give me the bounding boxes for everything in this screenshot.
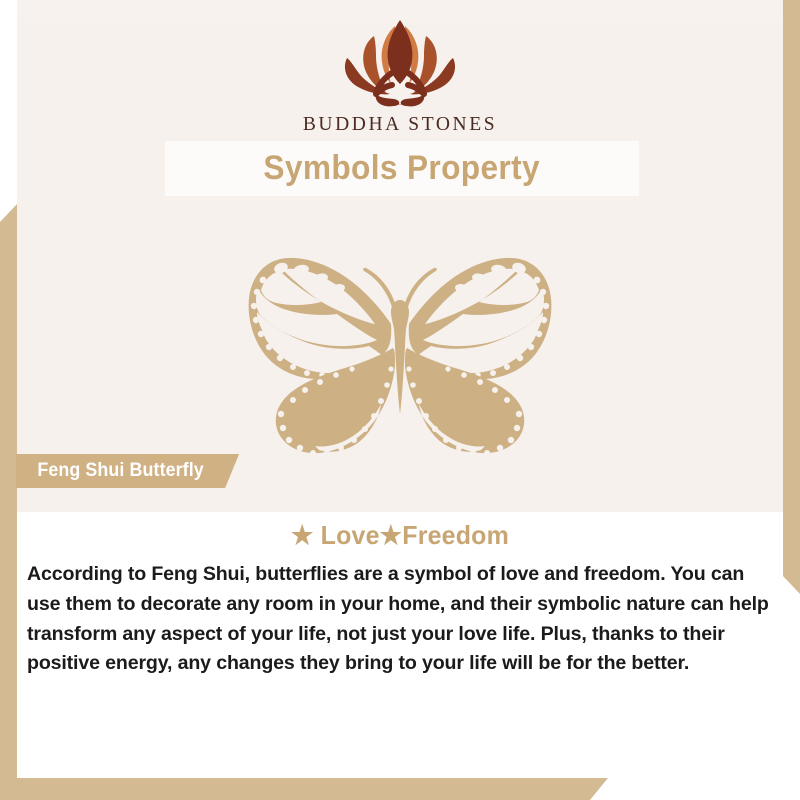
subheading: ★ Love★Freedom (32, 512, 767, 551)
hero-stage: BUDDHA STONES Symbols Property (17, 0, 783, 512)
description-paragraph: According to Feng Shui, butterflies are … (17, 560, 783, 679)
feng-shui-butterfly-banner: Feng Shui Butterfly (16, 454, 239, 488)
lotus-meditation-figure-icon (316, 18, 484, 110)
butterfly-illustration (215, 228, 585, 460)
page-title-band: Symbols Property (165, 141, 639, 196)
gold-border-right (783, 0, 800, 594)
banner-label: Feng Shui Butterfly (37, 460, 203, 482)
page-title: Symbols Property (264, 149, 541, 188)
brand-logo: BUDDHA STONES (17, 18, 783, 136)
gold-border-bottom (0, 778, 608, 800)
butterfly-icon (215, 228, 585, 460)
brand-name: BUDDHA STONES (303, 114, 497, 136)
gold-border-left (0, 204, 17, 796)
symbols-property-poster: BUDDHA STONES Symbols Property (0, 0, 800, 800)
description-panel: ★ Love★Freedom According to Feng Shui, b… (17, 512, 783, 778)
